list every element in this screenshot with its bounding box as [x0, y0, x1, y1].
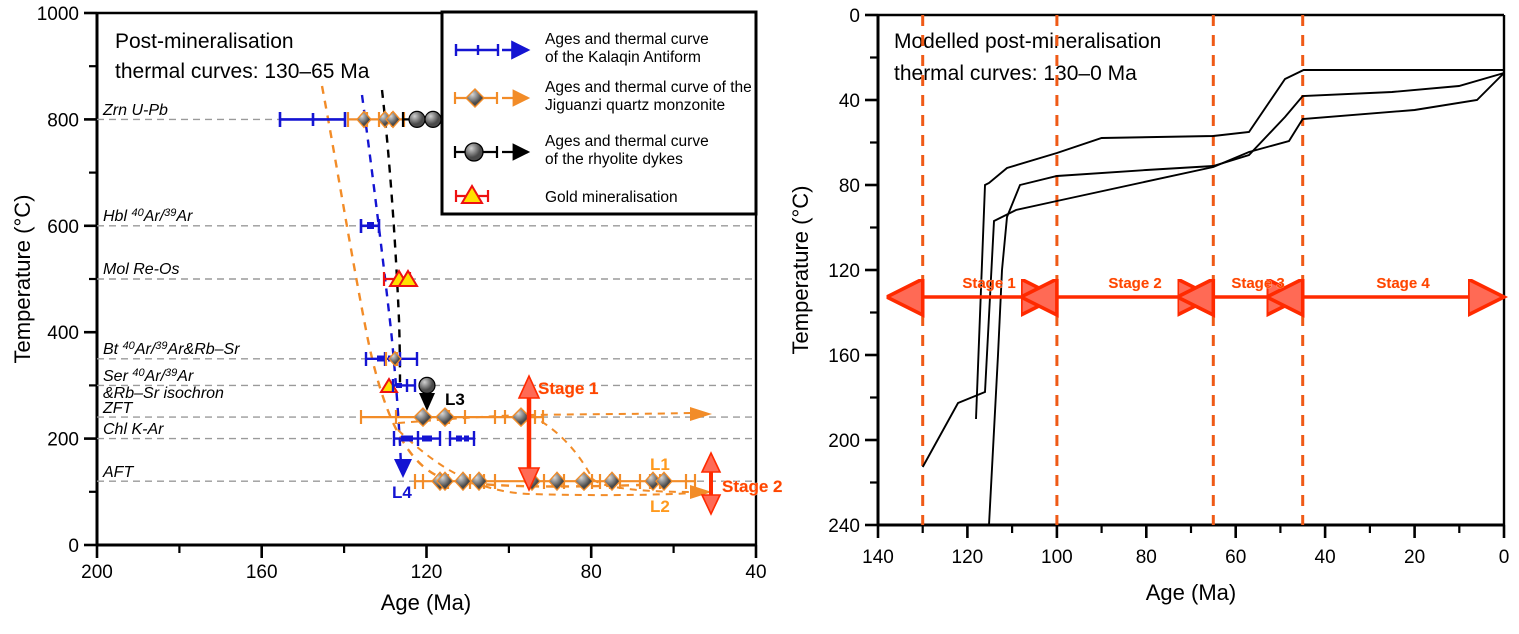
left-y-axis-title: Temperature (°C)	[10, 195, 35, 364]
svg-text:0: 0	[849, 6, 860, 27]
left-x-axis-title: Age (Ma)	[381, 590, 471, 615]
errorbar-kalaqin-zrn	[280, 112, 345, 127]
label-l1: L1	[650, 455, 670, 474]
cooling-curve-rhyolite	[382, 90, 400, 388]
svg-text:thermal curves: 130–0 Ma: thermal curves: 130–0 Ma	[894, 62, 1137, 85]
svg-text:120: 120	[952, 547, 984, 568]
mineral-label-bt: Bt 40Ar/39Ar&Rb–Sr	[103, 340, 240, 358]
svg-text:Jiguanzi quartz monzonite: Jiguanzi quartz monzonite	[545, 97, 725, 114]
markers-rhyolite-zrn	[409, 111, 441, 127]
right-x-axis-title: Age (Ma)	[1146, 580, 1236, 605]
svg-text:Gold mineralisation: Gold mineralisation	[545, 189, 678, 206]
stage3-label-right: Stage 3	[1231, 275, 1284, 292]
stage1-label-left: Stage 1	[538, 379, 598, 398]
stage1-label-right: Stage 1	[962, 275, 1015, 292]
stage-bar-labels: Stage 1 Stage 2 Stage 3 Stage 4	[962, 275, 1430, 292]
left-panel-title: Post-mineralisation thermal curves: 130–…	[115, 30, 370, 83]
stage-boundary-lines	[923, 15, 1303, 525]
mineral-label-mol: Mol Re-Os	[103, 261, 179, 278]
mineral-label-hbl: Hbl 40Ar/39Ar	[103, 207, 193, 225]
mineral-label-zft: ZFT	[102, 400, 134, 417]
svg-text:L3: L3	[445, 390, 465, 409]
l3-annotation: L3	[419, 390, 465, 411]
left-y-tick-labels: 0 200 400 600 800 1000	[37, 4, 79, 557]
label-l2: L2	[650, 497, 670, 516]
svg-text:200: 200	[828, 431, 860, 452]
svg-text:thermal curves: 130–65 Ma: thermal curves: 130–65 Ma	[115, 60, 370, 83]
mineral-label-ser: Ser 40Ar/39Ar	[103, 367, 194, 385]
svg-text:80: 80	[1136, 547, 1157, 568]
l1-l2-arrow-heads	[690, 407, 712, 499]
mineral-label-chl: Chl K-Ar	[103, 421, 164, 438]
model-path-a	[923, 73, 1504, 467]
svg-text:240: 240	[828, 516, 860, 537]
svg-text:120: 120	[411, 562, 443, 583]
svg-text:Modelled post-mineralisation: Modelled post-mineralisation	[894, 30, 1161, 53]
svg-text:L4: L4	[392, 483, 412, 502]
right-x-axis-ticks	[878, 525, 1504, 538]
stage2-arrow	[702, 453, 720, 514]
left-panel: 0 200 400 600 800 1000 Temperature (°C) …	[0, 0, 800, 634]
svg-text:400: 400	[47, 323, 79, 344]
model-path-c	[976, 70, 1504, 419]
closure-temp-labels: Zrn U-Pb Hbl 40Ar/39Ar Mol Re-Os Bt 40Ar…	[102, 102, 240, 481]
right-panel: 0 40 80 120 160 200 240 Temperature (°C)…	[760, 0, 1519, 634]
mineral-label-aft: AFT	[102, 464, 134, 481]
stage1-arrow	[519, 376, 539, 490]
legend: Ages and thermal curve of the Kalaqin An…	[442, 12, 756, 214]
data-row-hbl	[361, 219, 379, 233]
left-x-tick-labels: 200 160 120 80 40	[81, 562, 766, 583]
data-row-chl	[394, 431, 474, 446]
svg-text:Ages and thermal curve: Ages and thermal curve	[545, 133, 709, 150]
right-x-tick-labels: 140 120 100 80 60 40 20 0	[862, 547, 1509, 568]
stage4-label-right: Stage 4	[1376, 275, 1430, 292]
svg-text:1000: 1000	[37, 4, 79, 25]
svg-text:Ages and thermal curve: Ages and thermal curve	[545, 31, 709, 48]
left-x-axis-ticks	[97, 545, 756, 558]
right-plot-frame	[878, 15, 1504, 525]
svg-text:0: 0	[1499, 547, 1510, 568]
svg-text:140: 140	[862, 547, 894, 568]
right-y-tick-labels: 0 40 80 120 160 200 240	[828, 6, 860, 537]
left-y-axis-ticks	[84, 13, 97, 545]
svg-text:160: 160	[828, 346, 860, 367]
svg-text:120: 120	[828, 261, 860, 282]
svg-text:of the rhyolite dykes: of the rhyolite dykes	[545, 151, 683, 168]
svg-text:Post-mineralisation: Post-mineralisation	[115, 30, 294, 53]
svg-text:600: 600	[47, 217, 79, 238]
svg-text:20: 20	[1404, 547, 1425, 568]
right-y-axis-title: Temperature (°C)	[788, 186, 813, 355]
svg-text:200: 200	[81, 562, 113, 583]
svg-text:800: 800	[47, 110, 79, 131]
svg-text:160: 160	[246, 562, 278, 583]
data-row-ser	[381, 377, 435, 393]
mineral-label-zrn: Zrn U-Pb	[102, 102, 168, 119]
svg-text:100: 100	[1041, 547, 1073, 568]
svg-text:60: 60	[1225, 547, 1246, 568]
svg-text:40: 40	[1315, 547, 1336, 568]
data-row-bt	[366, 352, 417, 366]
svg-text:40: 40	[839, 91, 860, 112]
svg-text:80: 80	[581, 562, 602, 583]
stage2-label-right: Stage 2	[1108, 275, 1161, 292]
right-panel-title: Modelled post-mineralisation thermal cur…	[894, 30, 1161, 85]
svg-text:200: 200	[47, 430, 79, 451]
svg-text:Ages and thermal curve of the: Ages and thermal curve of the	[545, 79, 752, 96]
svg-text:80: 80	[839, 176, 860, 197]
model-path-b	[989, 73, 1504, 525]
right-y-axis-ticks	[865, 15, 878, 525]
svg-text:0: 0	[68, 536, 79, 557]
svg-text:of the Kalaqin Antiform: of the Kalaqin Antiform	[545, 49, 701, 66]
data-row-zrn	[280, 111, 448, 127]
data-row-mol	[384, 271, 417, 286]
